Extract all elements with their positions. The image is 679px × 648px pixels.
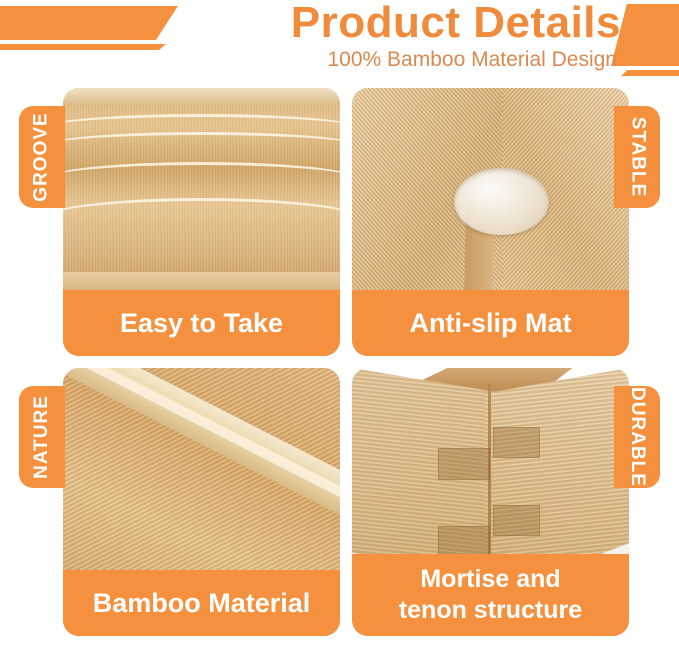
tenon-joint [438, 526, 490, 557]
feature-tab-nature: NATURE [19, 386, 65, 488]
header-decoration-left-thin [0, 44, 166, 50]
page-title: Product Details [291, 0, 621, 48]
groove-line [63, 132, 340, 161]
feature-caption-mortise-tenon-line1: Mortise and [399, 564, 582, 595]
feature-tab-stable: STABLE [614, 106, 660, 208]
groove-line [63, 162, 340, 199]
feature-caption-mortise-tenon: Mortise and tenon structure [352, 554, 629, 636]
feature-caption-mortise-tenon-line2: tenon structure [399, 595, 582, 626]
feature-caption-anti-slip-mat: Anti-slip Mat [352, 290, 629, 356]
header-decoration-right-trapezoid [611, 4, 679, 66]
feature-card-mortise-tenon: Mortise and tenon structure [352, 368, 629, 636]
feature-card-grid: GROOVE STABLE NATURE DURABLE Easy to Tak… [0, 88, 679, 648]
tenon-joint [493, 427, 539, 458]
feature-card-easy-to-take: Easy to Take [63, 88, 340, 356]
feature-tab-groove: GROOVE [19, 106, 65, 208]
feature-tab-groove-label: GROOVE [31, 112, 53, 201]
feature-caption-easy-to-take: Easy to Take [63, 290, 340, 356]
feature-caption-bamboo-material: Bamboo Material [63, 570, 340, 636]
tenon-joint [493, 505, 539, 536]
page-subtitle: 100% Bamboo Material Design [328, 48, 618, 72]
page-header: Product Details 100% Bamboo Material Des… [0, 0, 679, 88]
tenon-joint [438, 448, 490, 479]
feature-tab-durable: DURABLE [614, 386, 660, 488]
feature-tab-nature-label: NATURE [31, 395, 53, 479]
anti-slip-pad-icon [454, 168, 548, 235]
groove-line [63, 198, 340, 241]
header-decoration-left-bar [0, 6, 178, 40]
board-top-edge [63, 88, 340, 104]
feature-tab-durable-label: DURABLE [626, 387, 648, 487]
feature-card-bamboo-material: Bamboo Material [63, 368, 340, 636]
board-bottom-edge [63, 272, 340, 290]
feature-card-anti-slip-mat: Anti-slip Mat [352, 88, 629, 356]
header-decoration-right-thin [621, 70, 679, 76]
feature-tab-stable-label: STABLE [626, 117, 648, 198]
